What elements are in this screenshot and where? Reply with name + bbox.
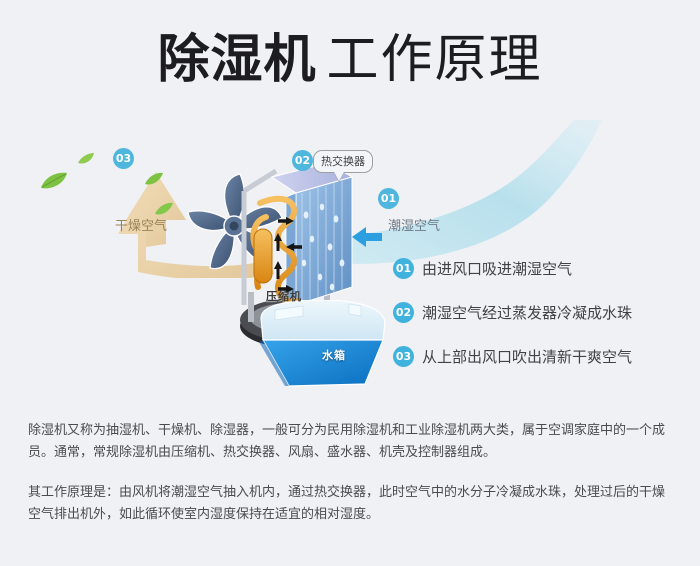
leaf-icon <box>78 152 94 170</box>
body-copy: 除湿机又称为抽湿机、干燥机、除湿器，一般可分为民用除湿机和工业除湿机两大类，属于… <box>28 420 676 526</box>
legend-text-03: 从上部出风口吹出清新干爽空气 <box>422 346 632 367</box>
page-title: 除湿机工作原理 <box>0 34 700 86</box>
leaf-icon <box>145 172 163 191</box>
heat-exchanger-callout: 热交换器 <box>313 150 373 173</box>
list-item: 03 从上部出风口吹出清新干爽空气 <box>393 342 693 370</box>
body-paragraph-1: 除湿机又称为抽湿机、干燥机、除湿器，一般可分为民用除湿机和工业除湿机两大类，属于… <box>28 420 676 464</box>
dry-air-label: 干燥空气 <box>115 215 167 234</box>
list-item: 02 潮湿空气经过蒸发器冷凝成水珠 <box>393 298 693 326</box>
leaf-icon <box>40 172 68 195</box>
dehumidifier-infographic: 除湿机工作原理 <box>0 0 700 566</box>
diagram-badge-03: 03 <box>113 148 134 169</box>
compressor-label: 压缩机 <box>266 288 302 304</box>
legend-list: 01 由进风口吸进潮湿空气 02 潮湿空气经过蒸发器冷凝成水珠 03 从上部出风… <box>393 254 693 386</box>
humid-air-label: 潮湿空气 <box>388 215 440 234</box>
legend-text-02: 潮湿空气经过蒸发器冷凝成水珠 <box>422 302 632 323</box>
legend-badge-02: 02 <box>393 302 414 323</box>
page-title-primary: 除湿机 <box>157 30 316 90</box>
page-title-secondary: 工作原理 <box>327 30 543 90</box>
callout-tail-icon <box>334 172 344 181</box>
diagram-badge-02: 02 <box>292 150 313 171</box>
legend-badge-01: 01 <box>393 258 414 279</box>
list-item: 01 由进风口吸进潮湿空气 <box>393 254 693 282</box>
diagram-badge-01: 01 <box>378 188 399 209</box>
legend-badge-03: 03 <box>393 346 414 367</box>
body-paragraph-2: 其工作原理是：由风机将潮湿空气抽入机内，通过热交换器，此时空气中的水分子冷凝成水… <box>28 482 676 526</box>
legend-text-01: 由进风口吸进潮湿空气 <box>422 258 572 279</box>
water-tank <box>255 300 400 390</box>
heat-exchanger-callout-text: 热交换器 <box>321 155 365 168</box>
water-tank-label: 水箱 <box>322 347 346 363</box>
